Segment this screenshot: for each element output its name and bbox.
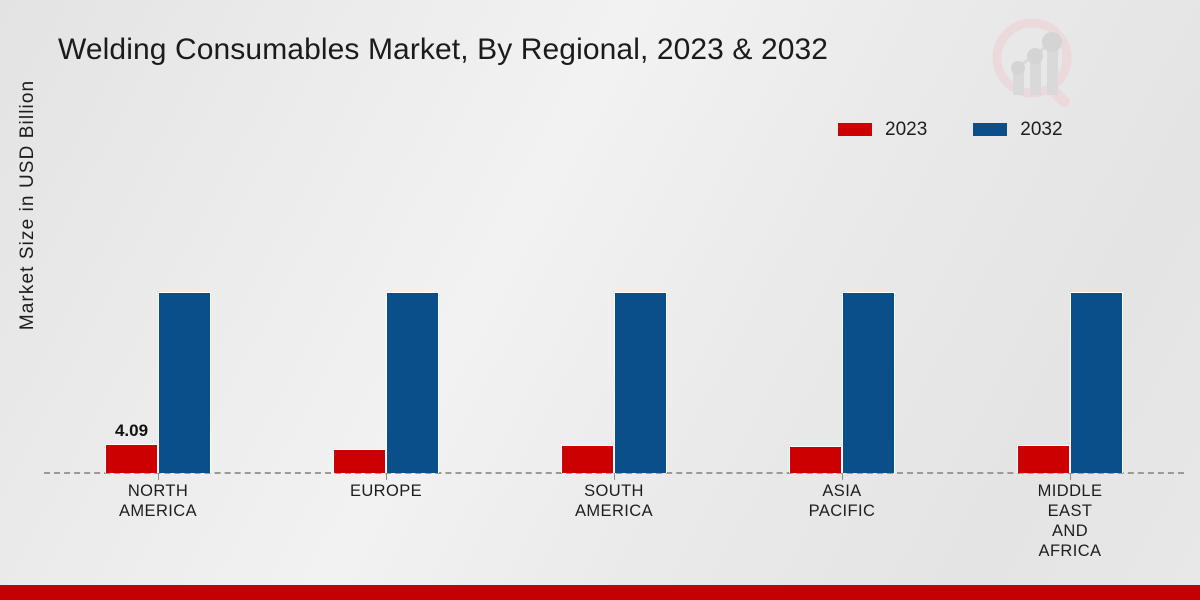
bar-value-label-2023-north-america: 4.09 [115,421,148,441]
bar-2032-south-america[interactable] [614,292,667,473]
bar-2023-south-america[interactable] [561,445,614,473]
x-axis-label-line: EUROPE [272,481,500,501]
x-axis-label-middle-east-and-africa: MIDDLE EAST AND AFRICA [956,481,1184,561]
legend-swatch-2023 [838,123,872,136]
x-axis-label-south-america: SOUTH AMERICA [500,481,728,561]
x-tick-south-america [614,473,615,480]
bar-group-asia-pacific [728,170,956,473]
legend-swatch-2032 [973,123,1007,136]
legend-item-2032[interactable]: 2032 [973,120,1062,139]
bar-2032-asia-pacific[interactable] [842,292,895,473]
bar-2023-asia-pacific[interactable] [789,446,842,473]
chart-canvas: Welding Consumables Market, By Regional,… [0,0,1200,600]
x-axis-label-line: AMERICA [500,501,728,521]
x-axis-labels: NORTH AMERICA EUROPE SOUTH AMERICA ASIA … [44,481,1184,561]
bar-group-north-america: 4.09 [44,170,272,473]
x-axis-label-line: NORTH [44,481,272,501]
bar-2032-middle-east-and-africa[interactable] [1070,292,1123,473]
plot-area: 4.09 [44,170,1184,474]
bar-groups: 4.09 [44,170,1184,473]
bar-group-europe [272,170,500,473]
bar-group-middle-east-and-africa [956,170,1184,473]
chart-title: Welding Consumables Market, By Regional,… [58,33,828,67]
x-axis-label-line: SOUTH [500,481,728,501]
legend-item-2023[interactable]: 2023 [838,120,927,139]
bar-2023-north-america[interactable] [105,444,158,473]
x-axis-label-line: ASIA [728,481,956,501]
x-axis-label-line: AND [956,521,1184,541]
bar-2023-middle-east-and-africa[interactable] [1017,445,1070,473]
x-axis-label-north-america: NORTH AMERICA [44,481,272,561]
x-axis-label-line: AMERICA [44,501,272,521]
chart-legend: 2023 2032 [838,120,1063,139]
bar-group-south-america [500,170,728,473]
bar-2023-europe[interactable] [333,449,386,473]
x-axis-label-line: EAST [956,501,1184,521]
x-axis-label-line: PACIFIC [728,501,956,521]
footer-accent-bar [0,585,1200,600]
bar-2032-north-america[interactable] [158,292,211,473]
x-tick-asia-pacific [842,473,843,480]
legend-label-2032: 2032 [1020,120,1062,139]
x-tick-middle-east-and-africa [1070,473,1071,480]
bar-2032-europe[interactable] [386,292,439,473]
x-axis-label-line: MIDDLE [956,481,1184,501]
x-axis-label-asia-pacific: ASIA PACIFIC [728,481,956,561]
x-axis-label-europe: EUROPE [272,481,500,561]
legend-label-2023: 2023 [885,120,927,139]
y-axis-title: Market Size in USD Billion [17,40,39,370]
x-tick-europe [386,473,387,480]
x-tick-north-america [158,473,159,480]
magnifier-bar-chart-logo-icon [982,8,1090,116]
x-axis-label-line: AFRICA [956,541,1184,561]
